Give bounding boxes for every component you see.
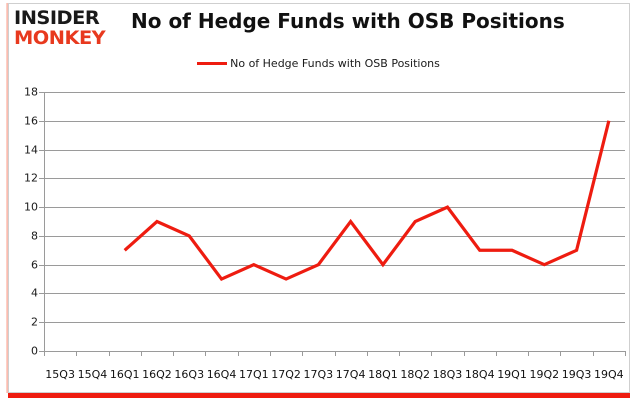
x-axis-tick-label: 18Q3 — [433, 368, 463, 381]
x-axis-tick-label: 15Q3 — [45, 368, 75, 381]
y-axis-tick-label: 2 — [4, 316, 38, 329]
x-axis-tick-label: 18Q2 — [400, 368, 430, 381]
y-axis-tick-label: 4 — [4, 287, 38, 300]
y-axis-tick-label: 14 — [4, 143, 38, 156]
y-axis-tick-label: 16 — [4, 114, 38, 127]
x-axis-tick-label: 17Q1 — [239, 368, 269, 381]
x-axis-tick-mark — [302, 351, 303, 356]
x-axis-tick-mark — [173, 351, 174, 356]
x-axis-tick-mark — [496, 351, 497, 356]
x-axis-tick-label: 16Q1 — [110, 368, 140, 381]
plot-container: 024681012141618 15Q315Q416Q116Q216Q316Q4… — [0, 0, 637, 408]
chart-screenshot: INSIDER MONKEY No of Hedge Funds with OS… — [0, 0, 637, 408]
y-axis-tick-label: 10 — [4, 201, 38, 214]
line-series-layer — [44, 92, 625, 351]
x-axis-tick-mark — [464, 351, 465, 356]
x-axis-tick-label: 19Q2 — [529, 368, 559, 381]
x-axis-tick-mark — [44, 351, 45, 356]
x-axis-tick-label: 16Q2 — [142, 368, 172, 381]
y-axis-tick-label: 18 — [4, 86, 38, 99]
x-axis-tick-mark — [270, 351, 271, 356]
x-axis-tick-label: 19Q4 — [594, 368, 624, 381]
x-axis-tick-mark — [528, 351, 529, 356]
x-axis-tick-mark — [76, 351, 77, 356]
x-axis-tick-mark — [238, 351, 239, 356]
x-axis-tick-label: 17Q4 — [336, 368, 366, 381]
y-axis-tick-label: 12 — [4, 172, 38, 185]
x-axis-tick-mark — [205, 351, 206, 356]
x-axis-tick-mark — [560, 351, 561, 356]
line-series — [125, 121, 609, 279]
x-axis-tick-label: 19Q3 — [562, 368, 592, 381]
y-axis-tick-label: 8 — [4, 229, 38, 242]
y-axis-tick-label: 0 — [4, 345, 38, 358]
x-axis-tick-label: 17Q2 — [271, 368, 301, 381]
x-axis-tick-label: 18Q4 — [465, 368, 495, 381]
x-axis-tick-mark — [335, 351, 336, 356]
x-axis-tick-label: 18Q1 — [368, 368, 398, 381]
x-axis-tick-mark — [109, 351, 110, 356]
x-axis-tick-label: 16Q4 — [207, 368, 237, 381]
y-axis-tick-label: 6 — [4, 258, 38, 271]
x-axis-tick-label: 19Q1 — [497, 368, 527, 381]
x-axis-tick-label: 15Q4 — [78, 368, 108, 381]
x-axis-tick-mark — [141, 351, 142, 356]
x-axis-tick-mark — [399, 351, 400, 356]
x-axis-tick-mark — [625, 351, 626, 356]
x-axis-tick-mark — [431, 351, 432, 356]
x-axis-tick-mark — [593, 351, 594, 356]
x-axis-tick-label: 16Q3 — [174, 368, 204, 381]
x-axis-tick-label: 17Q3 — [304, 368, 334, 381]
x-axis-tick-mark — [367, 351, 368, 356]
